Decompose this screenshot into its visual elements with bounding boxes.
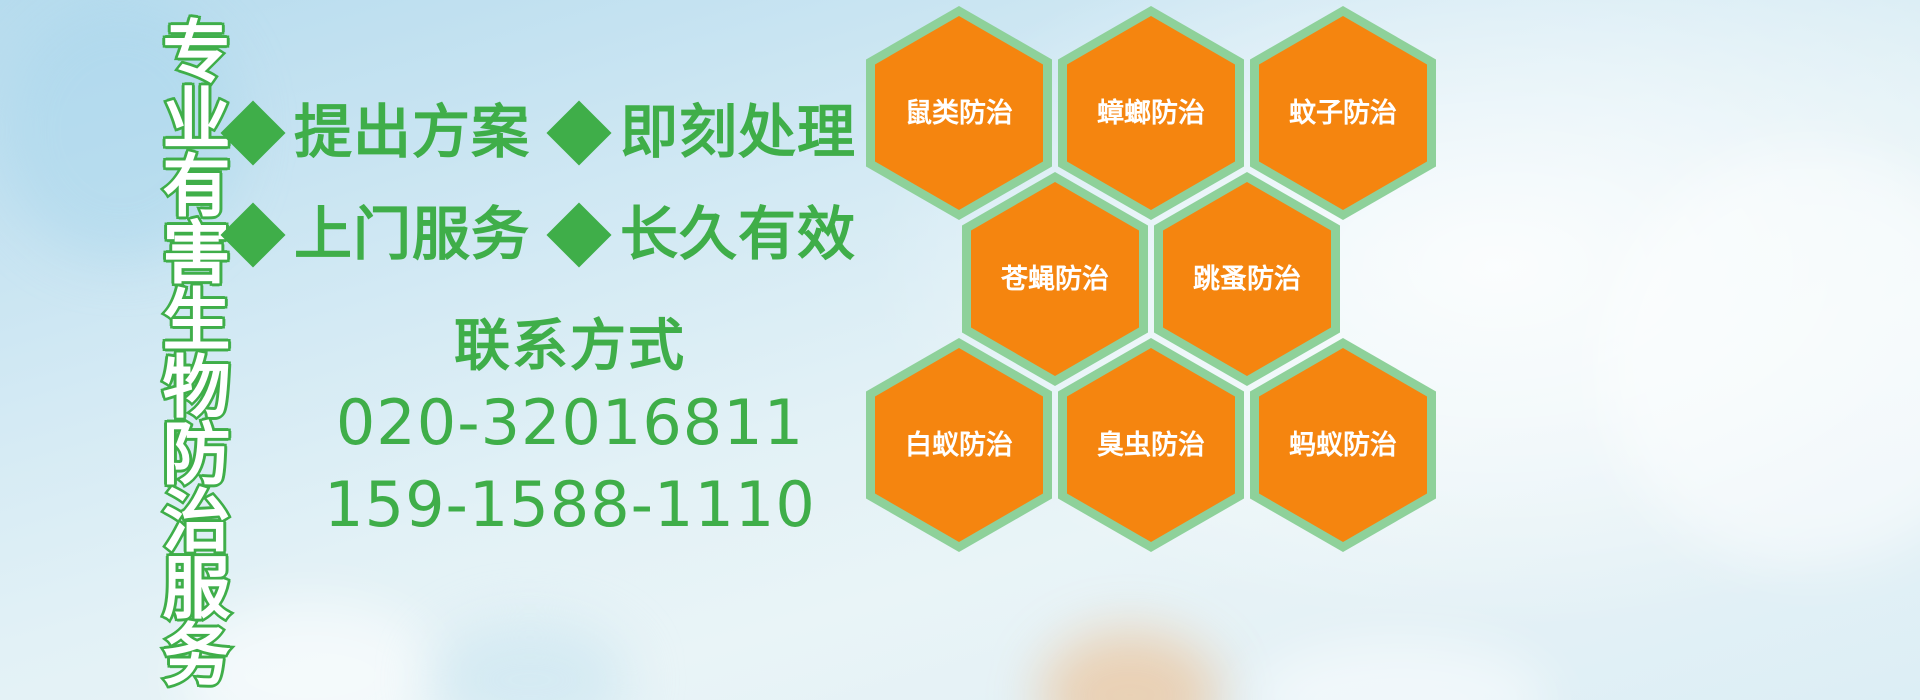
- feature-row: 提出方案 即刻处理: [230, 82, 870, 184]
- service-hexagon-inner: 臭虫防治: [1067, 348, 1235, 542]
- service-hexagon-label: 蟑螂防治: [1097, 100, 1205, 127]
- phone-number-mobile[interactable]: 159-1588-1110: [270, 464, 870, 546]
- service-hexagon-label: 跳蚤防治: [1193, 266, 1301, 293]
- service-hexagon-inner: 蟑螂防治: [1067, 16, 1235, 210]
- service-hexagon[interactable]: 蟑螂防治: [1058, 6, 1244, 220]
- service-hexagon-inner: 白蚁防治: [875, 348, 1043, 542]
- service-hexagon-inner: 蚂蚁防治: [1259, 348, 1427, 542]
- feature-item: 提出方案: [230, 104, 530, 162]
- feature-label: 上门服务: [294, 206, 530, 264]
- feature-row: 上门服务 长久有效: [230, 184, 870, 286]
- service-hexagon[interactable]: 蚊子防治: [1250, 6, 1436, 220]
- service-hexagon[interactable]: 臭虫防治: [1058, 338, 1244, 552]
- diamond-bullet-icon: [546, 100, 611, 165]
- service-hexagon-inner: 跳蚤防治: [1163, 182, 1331, 376]
- service-hexagon[interactable]: 跳蚤防治: [1154, 172, 1340, 386]
- service-hexagon[interactable]: 白蚁防治: [866, 338, 1052, 552]
- background-blob: [1250, 640, 1550, 700]
- phone-number-landline[interactable]: 020-32016811: [270, 382, 870, 464]
- contact-title: 联系方式: [270, 310, 870, 382]
- feature-label: 长久有效: [620, 206, 856, 264]
- service-hexagon-label: 鼠类防治: [905, 100, 1013, 127]
- service-hexagon-inner: 鼠类防治: [875, 16, 1043, 210]
- service-hexagon-label: 蚂蚁防治: [1289, 432, 1397, 459]
- background-blob: [1600, 150, 1920, 570]
- diamond-bullet-icon: [220, 100, 285, 165]
- feature-label: 提出方案: [294, 104, 530, 162]
- vertical-headline: 专业有害生物防治服务: [112, 16, 224, 576]
- service-hexagon-label: 苍蝇防治: [1001, 266, 1109, 293]
- service-hexagon-inner: 苍蝇防治: [971, 182, 1139, 376]
- diamond-bullet-icon: [546, 202, 611, 267]
- background-blob: [1040, 630, 1220, 700]
- promo-banner: 专业有害生物防治服务 提出方案 即刻处理 上门服务 长久有效 联系方式: [0, 0, 1920, 700]
- service-hexagon-grid: 鼠类防治 蟑螂防治 蚊子防治 苍蝇防治 跳蚤防治 白蚁防治: [862, 0, 1462, 570]
- service-hexagon[interactable]: 苍蝇防治: [962, 172, 1148, 386]
- service-hexagon[interactable]: 鼠类防治: [866, 6, 1052, 220]
- feature-label: 即刻处理: [620, 104, 856, 162]
- feature-list: 提出方案 即刻处理 上门服务 长久有效: [230, 82, 870, 286]
- service-hexagon-inner: 蚊子防治: [1259, 16, 1427, 210]
- service-hexagon-label: 臭虫防治: [1097, 432, 1205, 459]
- service-hexagon-label: 白蚁防治: [905, 432, 1013, 459]
- feature-item: 长久有效: [556, 206, 856, 264]
- diamond-bullet-icon: [220, 202, 285, 267]
- background-blob: [430, 620, 630, 700]
- feature-item: 上门服务: [230, 206, 530, 264]
- feature-item: 即刻处理: [556, 104, 856, 162]
- service-hexagon[interactable]: 蚂蚁防治: [1250, 338, 1436, 552]
- contact-block: 联系方式 020-32016811 159-1588-1110: [270, 310, 870, 545]
- service-hexagon-label: 蚊子防治: [1289, 100, 1397, 127]
